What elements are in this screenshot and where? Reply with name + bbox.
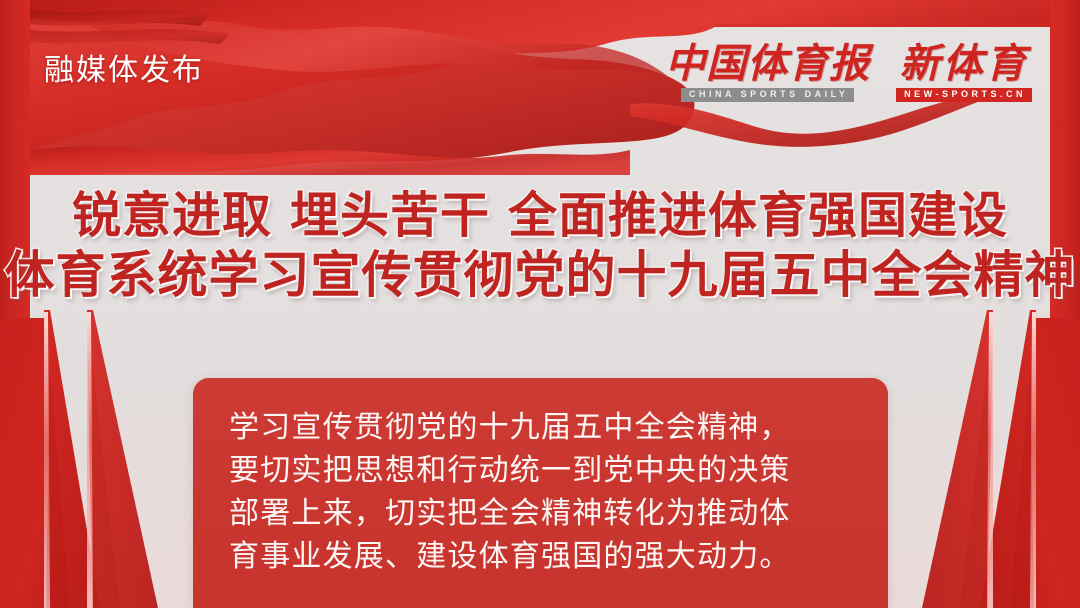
- quote-line-1: 学习宣传贯彻党的十九届五中全会精神，: [229, 406, 850, 449]
- logo-new-sports-cn: 新体育 NEW-SPORTS.CN: [896, 44, 1032, 102]
- quote-line-3: 部署上来，切实把全会精神转化为推动体: [229, 492, 850, 535]
- headline: 锐意进取 埋头苦干 全面推进体育强国建设 体育系统学习宣传贯彻党的十九届五中全会…: [0, 188, 1080, 303]
- left-red-edge-strip: [0, 0, 30, 608]
- logo-row: 中国体育报 CHINA SPORTS DAILY 新体育 NEW-SPORTS.…: [665, 44, 1032, 102]
- headline-line-1: 锐意进取 埋头苦干 全面推进体育强国建设: [0, 188, 1080, 243]
- logo-china-sports-daily-subtitle: CHINA SPORTS DAILY: [681, 88, 854, 102]
- logo-new-sports-cn-title: 新体育: [900, 44, 1029, 84]
- logo-new-sports-cn-subtitle: NEW-SPORTS.CN: [896, 88, 1032, 102]
- headline-line-2: 体育系统学习宣传贯彻党的十九届五中全会精神: [0, 247, 1080, 303]
- quote-line-2: 要切实把思想和行动统一到党中央的决策: [229, 449, 850, 492]
- quote-line-4: 育事业发展、建设体育强国的强大动力。: [229, 535, 850, 578]
- right-red-edge-strip: [1050, 0, 1080, 608]
- masthead-label: 融媒体发布: [44, 56, 204, 86]
- poster-root: 融媒体发布 中国体育报 CHINA SPORTS DAILY 新体育 NEW-S…: [0, 0, 1080, 608]
- logo-china-sports-daily-title: 中国体育报: [665, 44, 870, 84]
- quote-card: 学习宣传贯彻党的十九届五中全会精神， 要切实把思想和行动统一到党中央的决策 部署…: [193, 378, 888, 608]
- logo-china-sports-daily: 中国体育报 CHINA SPORTS DAILY: [665, 44, 870, 102]
